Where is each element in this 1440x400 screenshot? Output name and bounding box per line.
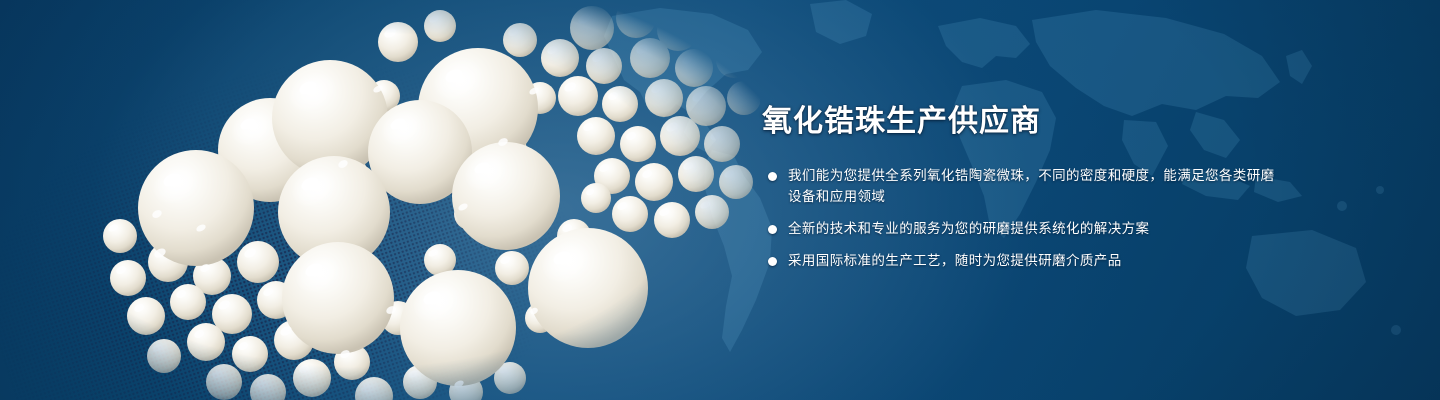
bullet-dot-icon [768,257,777,266]
list-item-label: 我们能为您提供全系列氧化锆陶瓷微珠，不同的密度和硬度，能满足您各类研磨设备和应用… [788,166,1282,208]
list-item: 我们能为您提供全系列氧化锆陶瓷微珠，不同的密度和硬度，能满足您各类研磨设备和应用… [762,166,1282,208]
banner-copy: 氧化锆珠生产供应商 我们能为您提供全系列氧化锆陶瓷微珠，不同的密度和硬度，能满足… [762,104,1282,272]
bullet-dot-icon [768,172,777,181]
zirconia-beads-image [0,0,760,400]
bullet-dot-icon [768,225,777,234]
page-title: 氧化锆珠生产供应商 [762,104,1282,139]
hero-banner: 氧化锆珠生产供应商 我们能为您提供全系列氧化锆陶瓷微珠，不同的密度和硬度，能满足… [0,0,1440,400]
list-item: 全新的技术和专业的服务为您的研磨提供系统化的解决方案 [762,219,1282,240]
list-item-label: 全新的技术和专业的服务为您的研磨提供系统化的解决方案 [788,219,1282,240]
list-item-label: 采用国际标准的生产工艺，随时为您提供研磨介质产品 [788,251,1282,272]
list-item: 采用国际标准的生产工艺，随时为您提供研磨介质产品 [762,251,1282,272]
feature-list: 我们能为您提供全系列氧化锆陶瓷微珠，不同的密度和硬度，能满足您各类研磨设备和应用… [762,166,1282,272]
